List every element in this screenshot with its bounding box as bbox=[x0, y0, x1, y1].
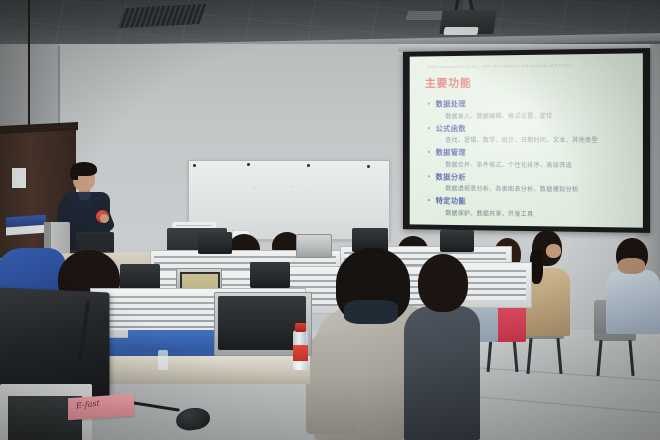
chair-leg bbox=[487, 338, 493, 372]
bottle-cap bbox=[295, 323, 306, 332]
student-head bbox=[418, 254, 468, 312]
cabinet-door-seam bbox=[28, 0, 30, 130]
student-body bbox=[404, 306, 480, 440]
slide-section: 数据管理 数据合并、条件格式、个性化排序、高级筛选 bbox=[427, 147, 634, 169]
wall-paper-note bbox=[12, 168, 26, 188]
projection-screen: Office Automation Series - Data Manageme… bbox=[403, 48, 650, 233]
slide-section: 数据分析 数据透视表分析、各类图表分析、数据模拟分析 bbox=[427, 171, 634, 194]
student-body bbox=[606, 270, 660, 334]
student-seated-right-of-blazer bbox=[404, 254, 482, 440]
slide-section-heading: 数据处理 bbox=[427, 97, 634, 109]
whiteboard-pin bbox=[193, 164, 196, 167]
whiteboard-pin bbox=[307, 164, 310, 167]
chair-leg bbox=[556, 338, 562, 374]
slide-section-detail: 数据保护、数据共享、开发工具 bbox=[445, 208, 633, 219]
screen-surface: Office Automation Series - Data Manageme… bbox=[410, 53, 643, 227]
whiteboard-pin bbox=[367, 165, 370, 168]
presenter-hand bbox=[100, 214, 109, 223]
presenter-collar bbox=[78, 192, 91, 200]
slide-section-heading: 公式函数 bbox=[427, 122, 634, 133]
slide-bullet-list: 数据处理 数据录入、数据编辑、格式设置、定位 公式函数 查找、逻辑、数学、统计、… bbox=[421, 97, 633, 219]
chair-leg bbox=[513, 338, 519, 372]
chair-leg bbox=[526, 338, 532, 374]
slide-section-detail: 数据合并、条件格式、个性化排序、高级筛选 bbox=[445, 159, 633, 169]
water-bottle bbox=[158, 350, 168, 370]
chair-leg bbox=[628, 340, 634, 376]
slide-section-heading: 特定功能 bbox=[427, 195, 634, 208]
computer-monitor bbox=[250, 262, 290, 288]
student-arm bbox=[306, 334, 358, 434]
student-collar bbox=[344, 300, 398, 324]
slide-section: 特定功能 数据保护、数据共享、开发工具 bbox=[427, 195, 634, 219]
slide-section: 公式函数 查找、逻辑、数学、统计、日期时间、文本、其他类型 bbox=[427, 122, 634, 144]
slide-section-heading: 数据分析 bbox=[427, 171, 634, 183]
whiteboard-writing bbox=[223, 179, 343, 201]
classroom-photo: Office Automation Series - Data Manageme… bbox=[0, 0, 660, 440]
slide-section-detail: 数据透视表分析、各类图表分析、数据模拟分析 bbox=[445, 183, 633, 194]
computer-monitor bbox=[198, 232, 232, 254]
bottle-label bbox=[293, 345, 308, 361]
slide-section-heading: 数据管理 bbox=[427, 147, 634, 158]
slide-section-detail: 数据录入、数据编辑、格式设置、定位 bbox=[445, 110, 633, 120]
slide-header-text: Office Automation Series - Data Manageme… bbox=[427, 63, 634, 70]
presenter-hair bbox=[70, 168, 78, 180]
student-lightblue-shirt bbox=[606, 232, 660, 332]
slide-section: 数据处理 数据录入、数据编辑、格式设置、定位 bbox=[427, 97, 634, 120]
presentation-slide: Office Automation Series - Data Manageme… bbox=[410, 53, 643, 227]
slide-title: 主要功能 bbox=[425, 73, 634, 91]
computer-monitor bbox=[120, 264, 160, 290]
slide-section-detail: 查找、逻辑、数学、统计、日期时间、文本、其他类型 bbox=[445, 135, 633, 144]
student-neck bbox=[618, 258, 645, 274]
student-face bbox=[546, 244, 561, 258]
chair-leg bbox=[596, 340, 602, 376]
projector-lens-icon bbox=[443, 27, 478, 35]
whiteboard-pin bbox=[247, 163, 250, 166]
